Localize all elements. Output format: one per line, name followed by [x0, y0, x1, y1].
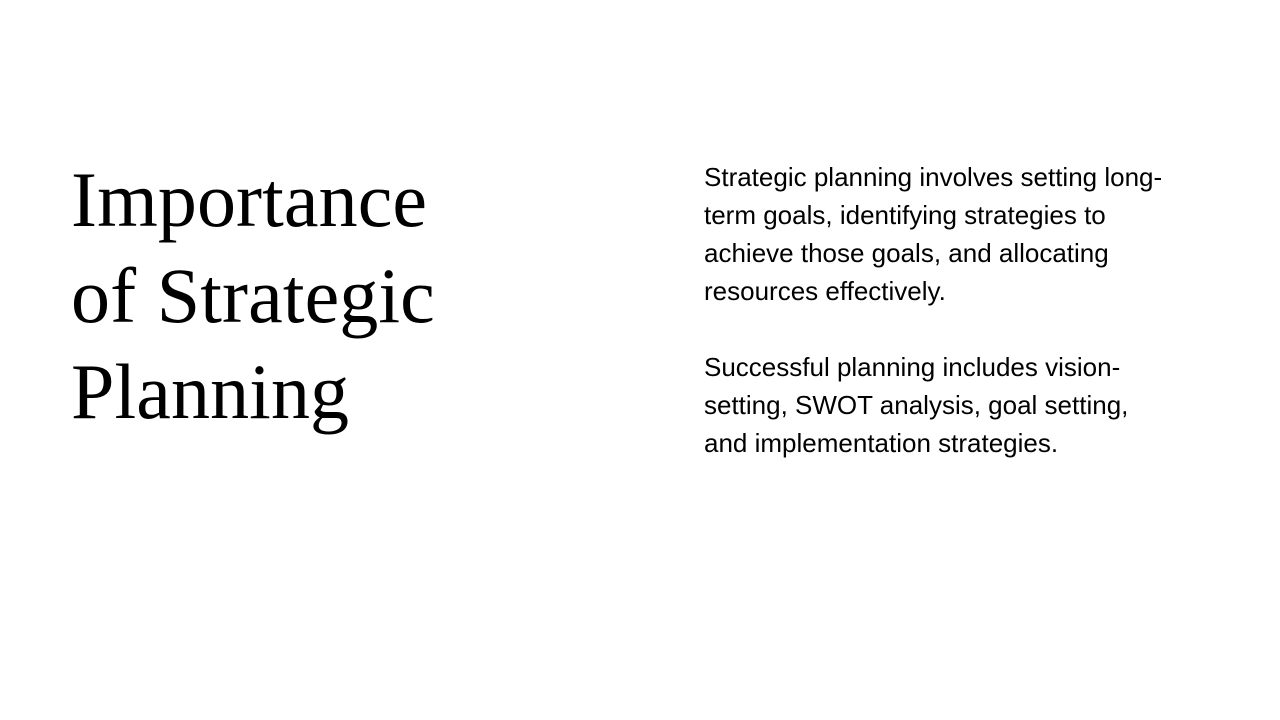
title-block: Importance of Strategic Planning — [71, 152, 471, 440]
body-content-block: Strategic planning involves setting long… — [704, 158, 1166, 462]
page-title: Importance of Strategic Planning — [71, 152, 471, 440]
paragraph-spacer — [704, 310, 1166, 348]
body-paragraph-2: Successful planning includes vision-sett… — [704, 348, 1166, 462]
slide-canvas: Importance of Strategic Planning Strateg… — [0, 0, 1280, 720]
body-paragraph-1: Strategic planning involves setting long… — [704, 158, 1166, 310]
